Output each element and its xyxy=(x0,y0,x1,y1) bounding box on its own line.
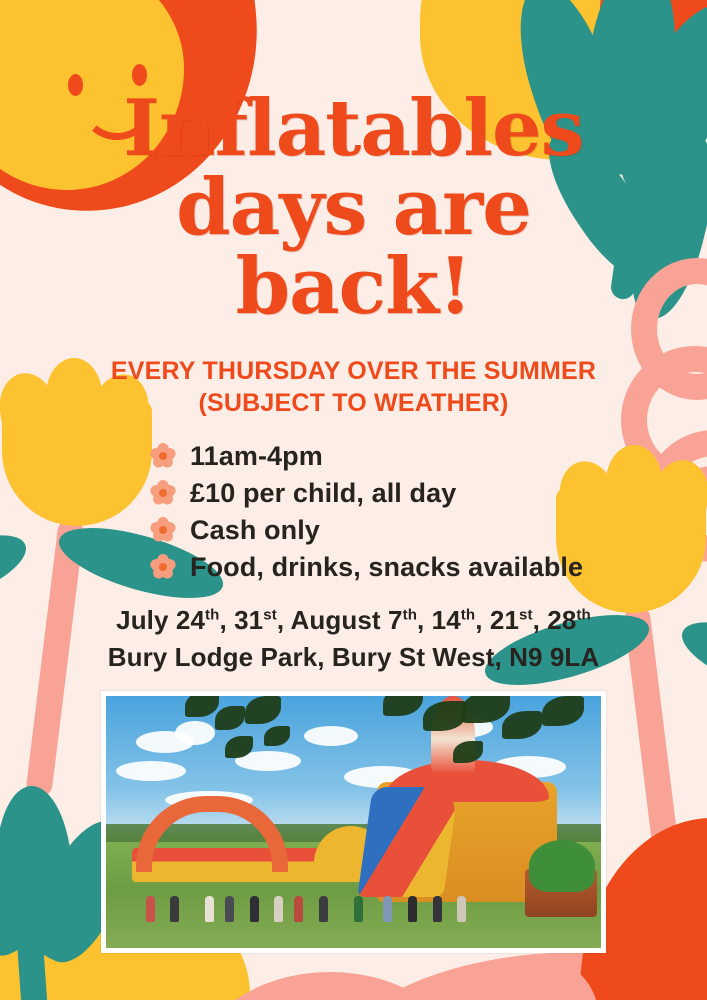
date-suffix-3: th xyxy=(403,606,417,623)
date-suffix-1: th xyxy=(205,606,219,623)
date-suffix-2: st xyxy=(263,606,277,623)
pink-wave-bottom-2 xyxy=(200,972,460,1000)
detail-text: Food, drinks, snacks available xyxy=(190,552,583,583)
list-item: Cash only xyxy=(150,515,707,546)
title-line-3: back! xyxy=(0,250,707,325)
flower-bullet-icon xyxy=(150,517,176,543)
photo-inflatable-slide xyxy=(357,787,458,897)
date-month-2: August xyxy=(291,605,381,635)
detail-text: Cash only xyxy=(190,515,320,546)
date-day-4: 14 xyxy=(432,605,461,635)
photo-image xyxy=(106,696,601,948)
date-month-1: July xyxy=(116,605,168,635)
date-day-2: 31 xyxy=(234,605,263,635)
list-item: 11am-4pm xyxy=(150,441,707,472)
photo-inflatable-tree xyxy=(529,840,595,892)
detail-text: £10 per child, all day xyxy=(190,478,456,509)
poster-title: Inflatables days are back! xyxy=(0,0,707,325)
subheading-line-1: EVERY THURSDAY OVER THE SUMMER xyxy=(0,355,707,387)
title-line-1: Inflatables xyxy=(0,92,707,167)
details-list: 11am-4pm £10 per child, all day Cash onl… xyxy=(150,441,707,583)
photo-inflatable-arch xyxy=(136,796,288,872)
venue-address: Bury Lodge Park, Bury St West, N9 9LA xyxy=(0,642,707,673)
event-photo xyxy=(101,691,606,953)
pink-wave-bottom xyxy=(330,952,707,1000)
flower-bullet-icon xyxy=(150,554,176,580)
date-suffix-6: th xyxy=(576,606,590,623)
list-item: £10 per child, all day xyxy=(150,478,707,509)
pink-blob-bottom-small xyxy=(520,966,600,1000)
date-day-1: 24 xyxy=(176,605,205,635)
list-item: Food, drinks, snacks available xyxy=(150,552,707,583)
date-suffix-4: th xyxy=(461,606,475,623)
event-dates: July 24th, 31st, August 7th, 14th, 21st,… xyxy=(0,605,707,636)
poster-canvas: Inflatables days are back! EVERY THURSDA… xyxy=(0,0,707,1000)
date-day-5: 21 xyxy=(490,605,519,635)
subheading-line-2: (SUBJECT TO WEATHER) xyxy=(0,387,707,419)
flower-bullet-icon xyxy=(150,443,176,469)
date-suffix-5: st xyxy=(519,606,533,623)
date-day-3: 7 xyxy=(388,605,403,635)
flower-bullet-icon xyxy=(150,480,176,506)
detail-text: 11am-4pm xyxy=(190,441,323,472)
subheading: EVERY THURSDAY OVER THE SUMMER (SUBJECT … xyxy=(0,355,707,419)
date-day-6: 28 xyxy=(547,605,576,635)
orange-blob-bottom-2 xyxy=(540,960,707,1000)
title-line-2: days are xyxy=(0,171,707,246)
